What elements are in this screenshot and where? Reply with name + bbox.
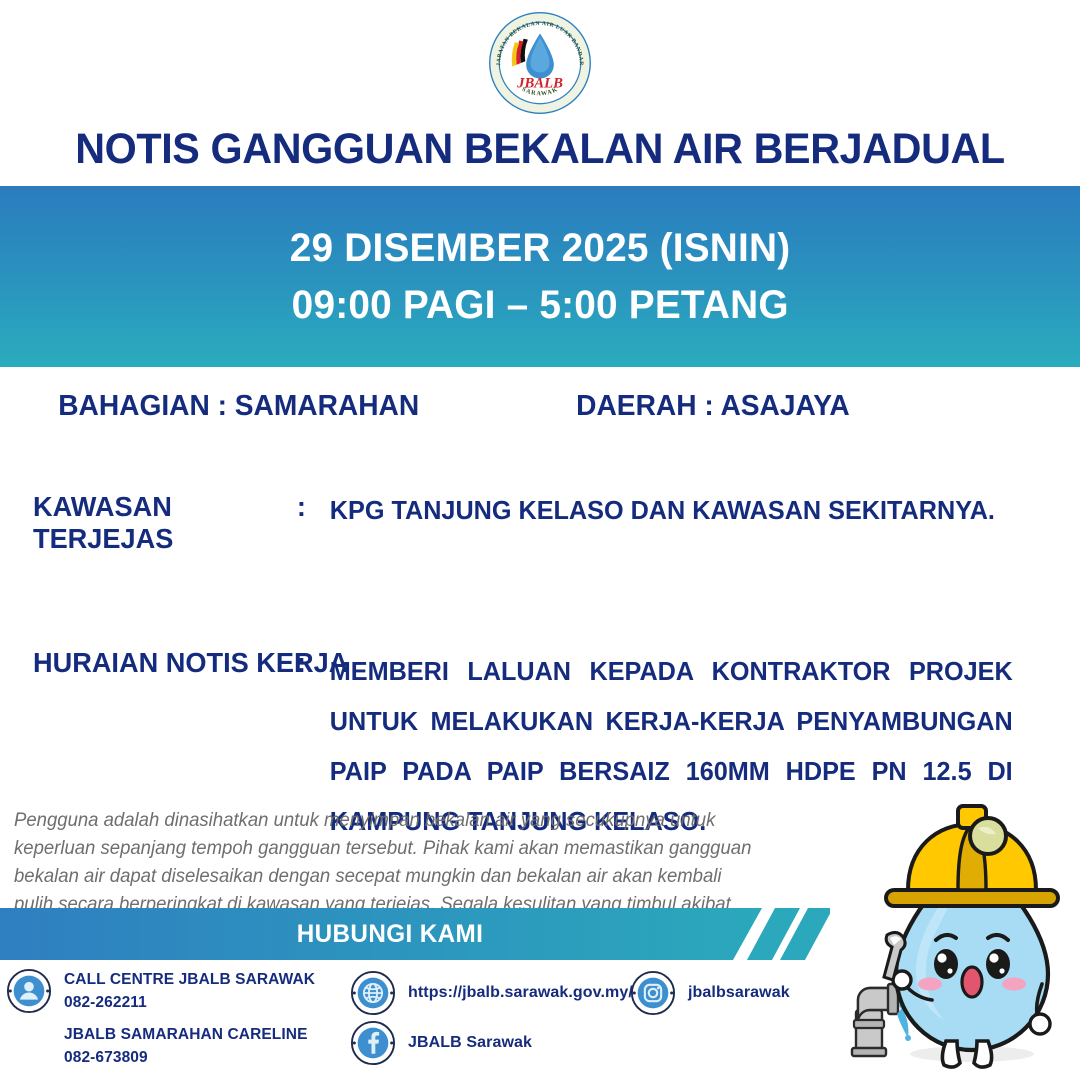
- instagram-handle: jbalbsarawak: [688, 981, 790, 1005]
- work-description-label: HURAIAN NOTIS KERJA: [33, 647, 297, 679]
- division-field: BAHAGIAN : SAMARAHAN: [33, 390, 576, 423]
- date-time-banner: 29 DISEMBER 2025 (ISNIN) 09:00 PAGI – 5:…: [0, 186, 1080, 367]
- contact-details: CALL CENTRE JBALB SARAWAK 082-262211 JBA…: [0, 968, 830, 1080]
- notice-details: BAHAGIAN : SAMARAHAN DAERAH : ASAJAYA KA…: [0, 390, 1080, 847]
- careline-number: 082-673809: [64, 1046, 308, 1069]
- jbalb-sarawak-logo: JBALB JABATAN BEKALAN AIR LUAR BANDAR SA…: [488, 11, 592, 115]
- logo-container: JBALB JABATAN BEKALAN AIR LUAR BANDAR SA…: [0, 8, 1080, 118]
- globe-icon: [350, 970, 396, 1016]
- careline-title: JBALB SAMARAHAN CARELINE: [64, 1026, 308, 1043]
- contact-banner: [0, 908, 830, 960]
- affected-area-colon: :: [297, 491, 330, 523]
- website-item[interactable]: https://jbalb.sarawak.gov.my/: [350, 970, 633, 1016]
- leaking-pipe-icon: [852, 984, 898, 1056]
- call-centre-number: 082-262211: [64, 991, 315, 1014]
- call-centre-title: CALL CENTRE JBALB SARAWAK: [64, 971, 315, 988]
- facebook-handle: JBALB Sarawak: [408, 1031, 532, 1055]
- person-icon: [6, 968, 52, 1014]
- work-description-colon: :: [297, 647, 330, 679]
- mascot-illustration: [838, 792, 1076, 1080]
- water-droplet-mascot: [838, 792, 1076, 1080]
- contact-banner-shape: [0, 908, 830, 960]
- notice-date: 29 DISEMBER 2025 (ISNIN): [290, 222, 791, 275]
- page-title: NOTIS GANGGUAN BEKALAN AIR BERJADUAL: [22, 125, 1059, 174]
- division-district-row: BAHAGIAN : SAMARAHAN DAERAH : ASAJAYA: [0, 390, 1048, 423]
- call-centre-item[interactable]: CALL CENTRE JBALB SARAWAK 082-262211: [6, 968, 315, 1015]
- water-disruption-notice-poster: JBALB JABATAN BEKALAN AIR LUAR BANDAR SA…: [0, 0, 1080, 1080]
- call-centre-text: CALL CENTRE JBALB SARAWAK 082-262211: [64, 968, 315, 1015]
- careline-text: JBALB SAMARAHAN CARELINE 082-673809: [64, 1023, 308, 1070]
- affected-area-label: KAWASAN TERJEJAS: [33, 491, 297, 555]
- district-field: DAERAH : ASAJAYA: [576, 390, 850, 423]
- notice-time: 09:00 PAGI – 5:00 PETANG: [291, 279, 788, 332]
- facebook-icon: [350, 1020, 396, 1066]
- instagram-icon: [630, 970, 676, 1016]
- affected-area-row: KAWASAN TERJEJAS : KPG TANJUNG KELASO DA…: [0, 491, 1048, 555]
- careline-item[interactable]: JBALB SAMARAHAN CARELINE 082-673809: [64, 1023, 308, 1070]
- affected-area-value: KPG TANJUNG KELASO DAN KAWASAN SEKITARNY…: [330, 491, 995, 526]
- facebook-item[interactable]: JBALB Sarawak: [350, 1020, 532, 1066]
- website-url: https://jbalb.sarawak.gov.my/: [408, 981, 633, 1005]
- instagram-item[interactable]: jbalbsarawak: [630, 970, 790, 1016]
